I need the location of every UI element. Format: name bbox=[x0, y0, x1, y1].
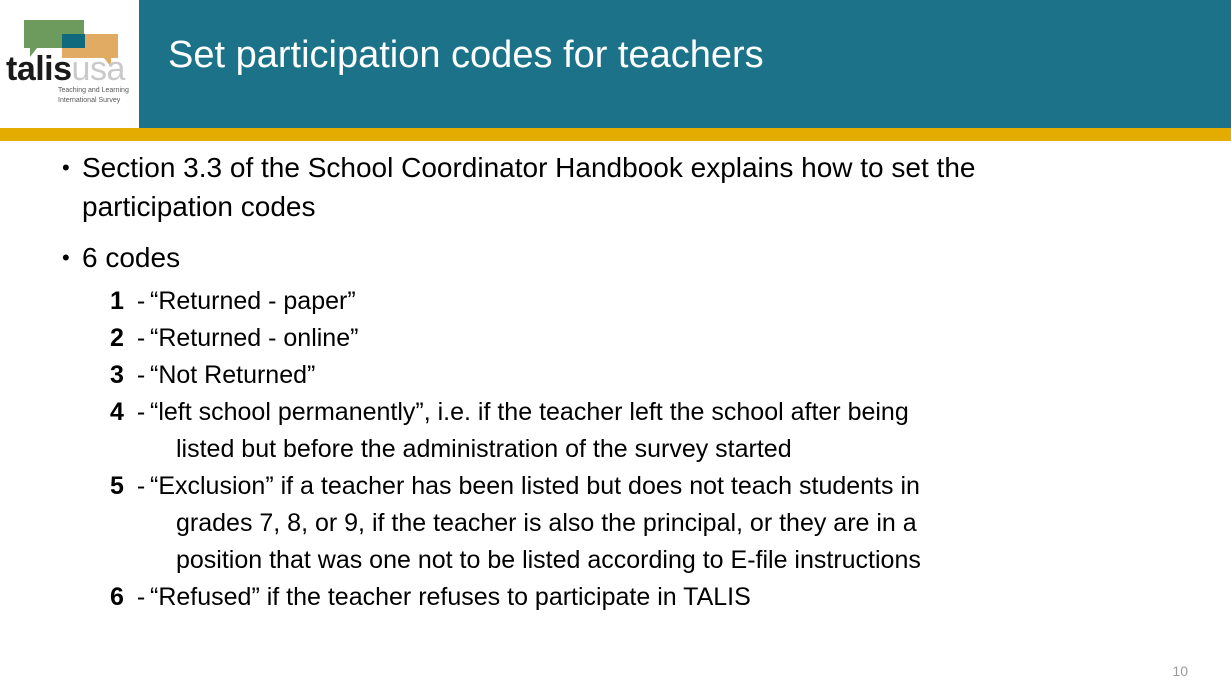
code-label-continuation: listed but before the administration of … bbox=[150, 431, 1110, 468]
bullet-dot-icon: • bbox=[62, 148, 82, 187]
code-dash: - bbox=[132, 468, 150, 505]
code-number: 1 bbox=[110, 283, 132, 320]
code-label: “Returned - paper” bbox=[150, 283, 1110, 320]
code-list-item: 6 - “Refused” if the teacher refuses to … bbox=[110, 579, 1172, 616]
code-number: 5 bbox=[110, 468, 132, 505]
bullet-item: • Section 3.3 of the School Coordinator … bbox=[62, 148, 1172, 226]
code-label: “left school permanently”, i.e. if the t… bbox=[150, 394, 1110, 468]
code-list-item: 5 - “Exclusion” if a teacher has been li… bbox=[110, 468, 1172, 579]
code-dash: - bbox=[132, 320, 150, 357]
logo-tagline: Teaching and Learning International Surv… bbox=[58, 86, 129, 105]
code-label: “Refused” if the teacher refuses to part… bbox=[150, 579, 1110, 616]
code-label-line: “Exclusion” if a teacher has been listed… bbox=[150, 472, 920, 500]
bullet-item: • 6 codes bbox=[62, 238, 1172, 277]
code-number: 4 bbox=[110, 394, 132, 431]
code-list-item: 1 - “Returned - paper” bbox=[110, 283, 1172, 320]
slide-body: • Section 3.3 of the School Coordinator … bbox=[62, 148, 1172, 616]
bullet-dot-icon: • bbox=[62, 238, 82, 277]
bullet-item-text: Section 3.3 of the School Coordinator Ha… bbox=[82, 148, 1092, 226]
code-number: 6 bbox=[110, 579, 132, 616]
code-label: “Not Returned” bbox=[150, 357, 1110, 394]
code-dash: - bbox=[132, 357, 150, 394]
speech-bubble-overlap-icon bbox=[62, 34, 85, 48]
code-dash: - bbox=[132, 579, 150, 616]
page-title: Set participation codes for teachers bbox=[168, 32, 1168, 78]
slide: talisusa Teaching and Learning Internati… bbox=[0, 0, 1231, 700]
gold-accent-band bbox=[0, 128, 1231, 141]
code-label: “Exclusion” if a teacher has been listed… bbox=[150, 468, 1110, 579]
code-number: 2 bbox=[110, 320, 132, 357]
code-list-item: 2 - “Returned - online” bbox=[110, 320, 1172, 357]
logo-panel: talisusa Teaching and Learning Internati… bbox=[0, 0, 139, 128]
bullet-item-text: 6 codes bbox=[82, 238, 1092, 277]
logo-wordmark: talisusa bbox=[6, 52, 125, 86]
code-number: 3 bbox=[110, 357, 132, 394]
bullet-spacer bbox=[62, 226, 1172, 238]
code-dash: - bbox=[132, 394, 150, 431]
page-number: 10 bbox=[1172, 663, 1188, 679]
code-list-item: 4 - “left school permanently”, i.e. if t… bbox=[110, 394, 1172, 468]
code-dash: - bbox=[132, 283, 150, 320]
logo-word-talis: talis bbox=[6, 50, 72, 88]
code-list-item: 3 - “Not Returned” bbox=[110, 357, 1172, 394]
participation-code-list: 1 - “Returned - paper” 2 - “Returned - o… bbox=[110, 283, 1172, 616]
code-label-line: “left school permanently”, i.e. if the t… bbox=[150, 398, 909, 426]
logo-word-usa: usa bbox=[72, 50, 125, 88]
code-label-continuation: grades 7, 8, or 9, if the teacher is als… bbox=[150, 505, 1110, 579]
code-label: “Returned - online” bbox=[150, 320, 1110, 357]
